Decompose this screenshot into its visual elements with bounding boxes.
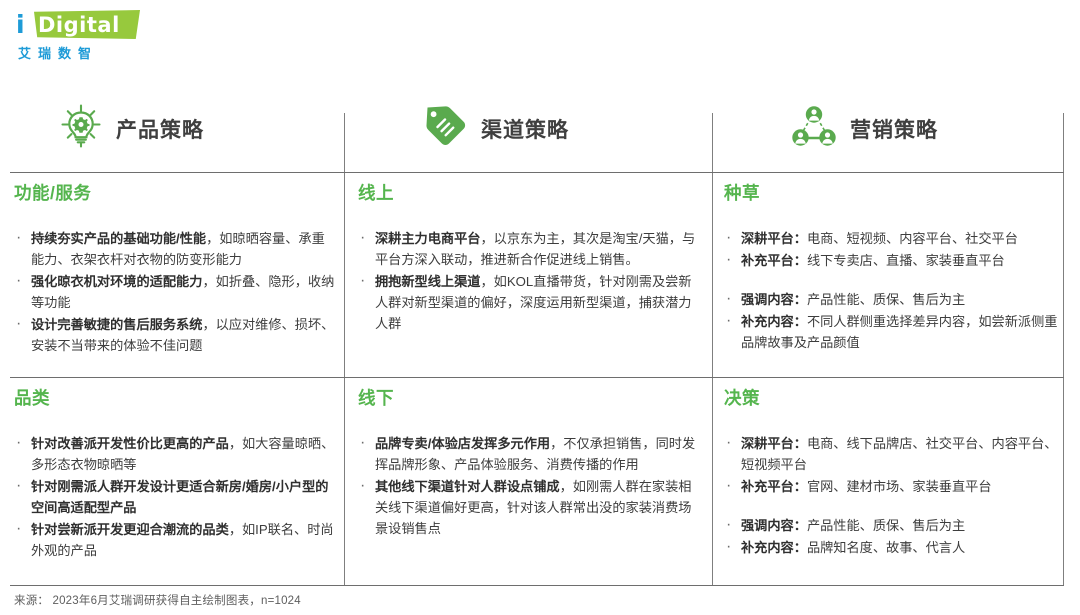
slide-canvas: i Digital 艾瑞数智 (0, 0, 1080, 615)
list-item: 补充平台：官网、建材市场、家装垂直平台 (724, 476, 1064, 497)
bullet-strong: 持续夯实产品的基础功能/性能 (31, 231, 206, 246)
cell-channel-online: 线上 深耕主力电商平台，以京东为主，其次是淘宝/天猫，与平台方深入联动，推进新合… (358, 182, 700, 335)
vertical-divider-1 (344, 113, 345, 586)
bullet-group: 深耕主力电商平台，以京东为主，其次是淘宝/天猫，与平台方深入联动，推进新合作促进… (358, 228, 700, 334)
cell-product-function-service: 功能/服务 持续夯实产品的基础功能/性能，如晾晒容量、承重能力、衣架衣杆对衣物的… (14, 182, 336, 357)
bullet-strong: 针对改善派开发性价比更高的产品 (31, 436, 229, 451)
list-item: 针对尝新派开发更迎合潮流的品类，如IP联名、时尚外观的产品 (14, 519, 336, 561)
bullet-group: 深耕平台：电商、短视频、内容平台、社交平台 补充平台：线下专卖店、直播、家装垂直… (724, 228, 1064, 271)
bullet-group: 品牌专卖/体验店发挥多元作用，不仅承担销售，同时发挥品牌形象、产品体验服务、消费… (358, 433, 700, 539)
cell-channel-offline: 线下 品牌专卖/体验店发挥多元作用，不仅承担销售，同时发挥品牌形象、产品体验服务… (358, 387, 700, 540)
list-item: 针对改善派开发性价比更高的产品，如大容量晾晒、多形态衣物晾晒等 (14, 433, 336, 475)
list-item: 拥抱新型线上渠道，如KOL直播带货，针对刚需及尝新人群对新型渠道的偏好，深度运用… (358, 271, 700, 334)
logo-chinese-name: 艾瑞数智 (18, 43, 98, 62)
list-item: 强调内容：产品性能、质保、售后为主 (724, 289, 1064, 310)
cell-title: 种草 (724, 182, 1064, 204)
list-item: 深耕平台：电商、短视频、内容平台、社交平台 (724, 228, 1064, 249)
horizontal-rule-header (10, 172, 1064, 173)
column-title-marketing: 营销策略 (850, 114, 938, 144)
vertical-divider-2 (712, 113, 713, 586)
cell-title: 线下 (358, 387, 700, 409)
bullet-strong: 补充内容： (741, 540, 807, 555)
cell-title: 功能/服务 (14, 182, 336, 204)
bullet-group: 持续夯实产品的基础功能/性能，如晾晒容量、承重能力、衣架衣杆对衣物的防变形能力 … (14, 228, 336, 356)
bullet-strong: 强调内容： (741, 292, 807, 307)
bullet-strong: 补充平台： (741, 479, 807, 494)
logo-initial: i (16, 12, 25, 38)
source-note: 来源： 2023年6月艾瑞调研获得自主绘制图表，n=1024 (14, 592, 301, 608)
bullet-strong: 补充平台： (741, 253, 807, 268)
bullet-strong: 其他线下渠道针对人群设点铺成 (375, 479, 560, 494)
logo-mark: i Digital (14, 10, 144, 40)
column-headers: 产品策略 渠道策略 (0, 84, 1080, 173)
horizontal-rule-middle (10, 377, 1064, 378)
people-network-icon (790, 102, 838, 155)
cell-title: 线上 (358, 182, 700, 204)
cell-title: 品类 (14, 387, 336, 409)
cell-product-category: 品类 针对改善派开发性价比更高的产品，如大容量晾晒、多形态衣物晾晒等 针对刚需派… (14, 387, 336, 562)
list-item: 深耕主力电商平台，以京东为主，其次是淘宝/天猫，与平台方深入联动，推进新合作促进… (358, 228, 700, 270)
column-title-channel: 渠道策略 (481, 114, 569, 144)
column-header-product: 产品策略 (58, 84, 204, 173)
bullet-rest: 电商、短视频、内容平台、社交平台 (807, 231, 1018, 246)
list-item: 补充内容：不同人群侧重选择差异内容，如尝新派侧重品牌故事及产品颜值 (724, 311, 1064, 353)
bullet-strong: 设计完善敏捷的售后服务系统 (31, 317, 202, 332)
list-item: 持续夯实产品的基础功能/性能，如晾晒容量、承重能力、衣架衣杆对衣物的防变形能力 (14, 228, 336, 270)
bullet-strong: 强调内容： (741, 518, 807, 533)
list-item: 补充平台：线下专卖店、直播、家装垂直平台 (724, 250, 1064, 271)
bullet-strong: 针对尝新派开发更迎合潮流的品类 (31, 522, 229, 537)
lightbulb-gear-icon (58, 102, 104, 155)
column-title-product: 产品策略 (116, 114, 204, 144)
bullet-group: 强调内容：产品性能、质保、售后为主 补充内容：不同人群侧重选择差异内容，如尝新派… (724, 289, 1064, 353)
bullet-strong: 强化晾衣机对环境的适配能力 (31, 274, 202, 289)
bullet-strong: 拥抱新型线上渠道 (375, 274, 481, 289)
list-item: 强化晾衣机对环境的适配能力，如折叠、隐形，收纳等功能 (14, 271, 336, 313)
list-item: 其他线下渠道针对人群设点铺成，如刚需人群在家装相关线下渠道偏好更高，针对该人群常… (358, 476, 700, 539)
bullet-rest: 产品性能、质保、售后为主 (807, 518, 965, 533)
bullet-strong: 针对刚需派人群开发设计更适合新房/婚房/小户型的空间高适配型产品 (31, 479, 328, 515)
list-item: 强调内容：产品性能、质保、售后为主 (724, 515, 1064, 536)
bullet-group: 针对改善派开发性价比更高的产品，如大容量晾晒、多形态衣物晾晒等 针对刚需派人群开… (14, 433, 336, 561)
bullet-group: 强调内容：产品性能、质保、售后为主 补充内容：品牌知名度、故事、代言人 (724, 515, 1064, 558)
list-item: 深耕平台：电商、线下品牌店、社交平台、内容平台、短视频平台 (724, 433, 1064, 475)
price-tag-icon (421, 102, 469, 155)
logo-wordmark: Digital (38, 13, 120, 37)
cell-title: 决策 (724, 387, 1064, 409)
bullet-strong: 品牌专卖/体验店发挥多元作用 (375, 436, 550, 451)
list-item: 品牌专卖/体验店发挥多元作用，不仅承担销售，同时发挥品牌形象、产品体验服务、消费… (358, 433, 700, 475)
horizontal-rule-bottom (10, 585, 1064, 586)
bullet-rest: 产品性能、质保、售后为主 (807, 292, 965, 307)
bullet-strong: 深耕平台： (741, 231, 807, 246)
cell-marketing-seeding: 种草 深耕平台：电商、短视频、内容平台、社交平台 补充平台：线下专卖店、直播、家… (724, 182, 1064, 354)
brand-logo: i Digital 艾瑞数智 (14, 10, 204, 62)
bullet-group: 深耕平台：电商、线下品牌店、社交平台、内容平台、短视频平台 补充平台：官网、建材… (724, 433, 1064, 497)
bullet-rest: 品牌知名度、故事、代言人 (807, 540, 965, 555)
bullet-strong: 深耕平台： (741, 436, 807, 451)
column-header-marketing: 营销策略 (790, 84, 938, 173)
column-header-channel: 渠道策略 (421, 84, 569, 173)
list-item: 补充内容：品牌知名度、故事、代言人 (724, 537, 1064, 558)
bullet-rest: 官网、建材市场、家装垂直平台 (807, 479, 992, 494)
cell-marketing-decision: 决策 深耕平台：电商、线下品牌店、社交平台、内容平台、短视频平台 补充平台：官网… (724, 387, 1064, 559)
bullet-strong: 补充内容： (741, 314, 807, 329)
list-item: 设计完善敏捷的售后服务系统，以应对维修、损坏、安装不当带来的体验不佳问题 (14, 314, 336, 356)
bullet-rest: 线下专卖店、直播、家装垂直平台 (807, 253, 1005, 268)
list-item: 针对刚需派人群开发设计更适合新房/婚房/小户型的空间高适配型产品 (14, 476, 336, 518)
bullet-strong: 深耕主力电商平台 (375, 231, 481, 246)
